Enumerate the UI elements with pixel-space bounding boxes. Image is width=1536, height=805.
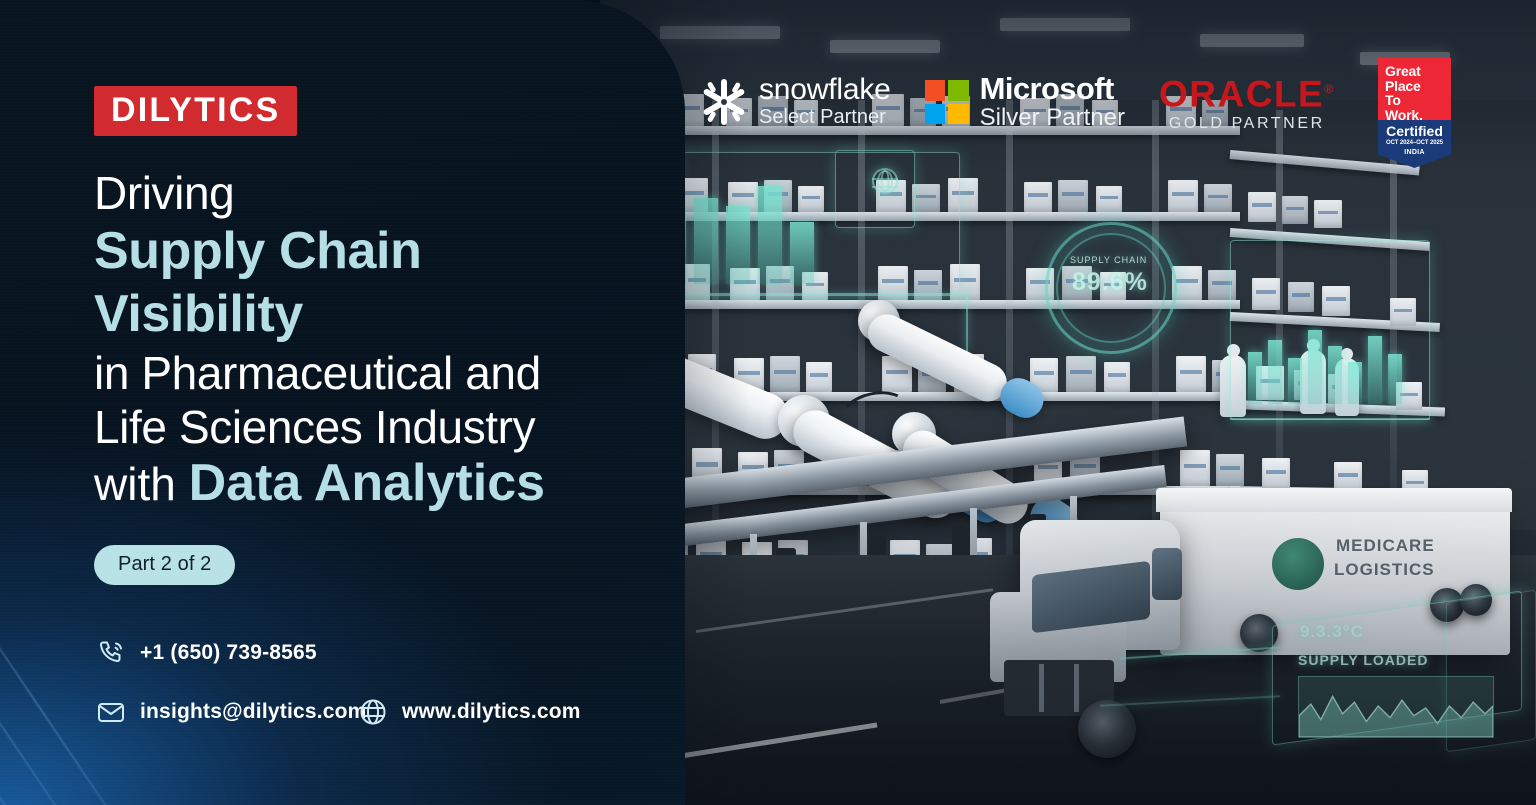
inventory-box [1262, 458, 1290, 490]
ms-square-yellow [948, 104, 969, 125]
gptw-line2: Place [1385, 79, 1451, 94]
partner-name: snowflake [759, 75, 891, 105]
hud-bar [694, 198, 718, 284]
ceiling-light [660, 26, 780, 39]
headline-block: Driving Supply Chain Visibility in Pharm… [94, 166, 624, 513]
hud-connector [966, 294, 968, 352]
hud-panel [835, 150, 915, 228]
partner-snowflake: snowflake Select Partner [700, 75, 891, 129]
truck-side-window [1152, 548, 1182, 600]
phone-number: +1 (650) 739-8565 [140, 641, 317, 665]
ms-square-green [948, 80, 969, 101]
inventory-box [1066, 356, 1096, 392]
gptw-period: OCT 2024–OCT 2025 [1378, 139, 1451, 148]
inventory-box [770, 356, 800, 392]
inventory-box [1058, 180, 1088, 212]
inventory-box [1176, 356, 1206, 392]
gptw-top-section: Great Place To Work. [1378, 58, 1451, 120]
email-address: insights@dilytics.com [140, 700, 367, 724]
gptw-line4: Work. [1385, 108, 1451, 123]
ms-square-blue [925, 104, 946, 125]
inventory-box [806, 362, 832, 392]
truck-brand-line2: LOGISTICS [1334, 560, 1435, 580]
partner-oracle: ORACLE® GOLD PARTNER [1159, 70, 1335, 133]
ceiling-light [1200, 34, 1304, 47]
inventory-box [1216, 454, 1244, 486]
contact-phone[interactable]: +1 (650) 739-8565 [96, 638, 317, 668]
inventory-box [1282, 196, 1308, 224]
oracle-label-group: ORACLE® GOLD PARTNER [1159, 70, 1335, 133]
hud-bar [790, 222, 814, 284]
hud-bar [758, 186, 782, 284]
microsoft-squares-icon [925, 80, 969, 124]
headline-line-5: Life Sciences Industry [94, 400, 624, 454]
trailer-roof [1156, 488, 1512, 512]
hud-bar [726, 206, 750, 284]
headline-line-3: Visibility [94, 283, 624, 346]
hud-bar [1348, 362, 1362, 404]
partner-tier: Select Partner [759, 105, 891, 129]
headline-accent: Data Analytics [189, 454, 545, 512]
inventory-box [1096, 186, 1122, 212]
microsoft-label-group: Microsoft Silver Partner [980, 73, 1125, 131]
phone-icon [96, 638, 126, 668]
contact-email[interactable]: insights@dilytics.com [96, 697, 367, 727]
contact-website[interactable]: www.dilytics.com [358, 697, 581, 727]
logo-text: DILYTICS [111, 93, 280, 127]
truck-logo-mark [1272, 538, 1324, 590]
inventory-box [1104, 362, 1130, 392]
great-place-to-work-badge: Great Place To Work. Certified OCT 2024–… [1378, 58, 1451, 168]
partner-microsoft: Microsoft Silver Partner [925, 73, 1125, 131]
partner-name: ORACLE® [1159, 70, 1335, 113]
oracle-wordmark: ORACLE [1159, 74, 1324, 115]
snowflake-icon [700, 77, 748, 127]
hud-side-panel [1446, 590, 1536, 753]
truck-wheel-front [1078, 700, 1136, 758]
headline-line-6: with Data Analytics [94, 454, 624, 513]
gptw-line3: To [1385, 93, 1451, 108]
inventory-box [1168, 180, 1198, 212]
headline-line-4: in Pharmaceutical and [94, 346, 624, 400]
registered-mark: ® [1324, 82, 1334, 96]
dilytics-logo: DILYTICS [94, 86, 297, 136]
ms-square-red [925, 80, 946, 101]
ceiling-light [1000, 18, 1130, 31]
gptw-country: INDIA [1378, 148, 1451, 158]
hud-axis [1230, 418, 1430, 420]
truck-brand-line1: MEDICARE [1336, 536, 1435, 556]
shelf-upright [1006, 100, 1013, 600]
headline-line-2: Supply Chain [94, 220, 624, 283]
ceiling-light [830, 40, 940, 53]
partner-name: Microsoft [980, 73, 1125, 104]
partner-tier: Silver Partner [980, 104, 1125, 131]
inventory-box [1180, 450, 1210, 486]
hud-gauge-caption: SUPPLY CHAIN [1070, 255, 1147, 265]
gptw-bottom-section: Certified OCT 2024–OCT 2025 INDIA [1378, 120, 1451, 168]
inventory-box [1024, 182, 1052, 212]
gptw-line1: Great [1385, 64, 1451, 79]
partner-badges: snowflake Select Partner Microsoft Silve… [700, 56, 1335, 148]
envelope-icon [96, 697, 126, 727]
hud-bar [1368, 336, 1382, 404]
gptw-status: Certified [1378, 123, 1451, 139]
headline-prefix: with [94, 458, 189, 510]
hud-temperature-value: 9.3.3°C [1300, 622, 1364, 642]
hud-bar [1328, 346, 1342, 404]
marketing-banner: SUPPLY CHAIN 89.6% [0, 0, 1536, 805]
part-badge: Part 2 of 2 [94, 545, 235, 585]
globe-icon [358, 697, 388, 727]
website-url: www.dilytics.com [402, 700, 581, 724]
inventory-box [1248, 192, 1276, 222]
snowflake-label-group: snowflake Select Partner [759, 75, 891, 129]
headline-line-1: Driving [94, 166, 624, 220]
hud-gauge-value: 89.6% [1072, 268, 1148, 297]
hud-bar [1268, 340, 1282, 404]
hud-bar [1248, 352, 1262, 404]
inventory-box [1314, 200, 1342, 228]
inventory-box [1204, 184, 1232, 212]
partner-tier: GOLD PARTNER [1159, 114, 1335, 134]
hud-status-value: SUPPLY LOADED [1298, 652, 1428, 668]
hud-bar [1308, 330, 1322, 404]
hud-bar [1288, 358, 1302, 404]
content-panel: DILYTICS Driving Supply Chain Visibility… [0, 0, 685, 805]
hud-bar [1388, 354, 1402, 404]
